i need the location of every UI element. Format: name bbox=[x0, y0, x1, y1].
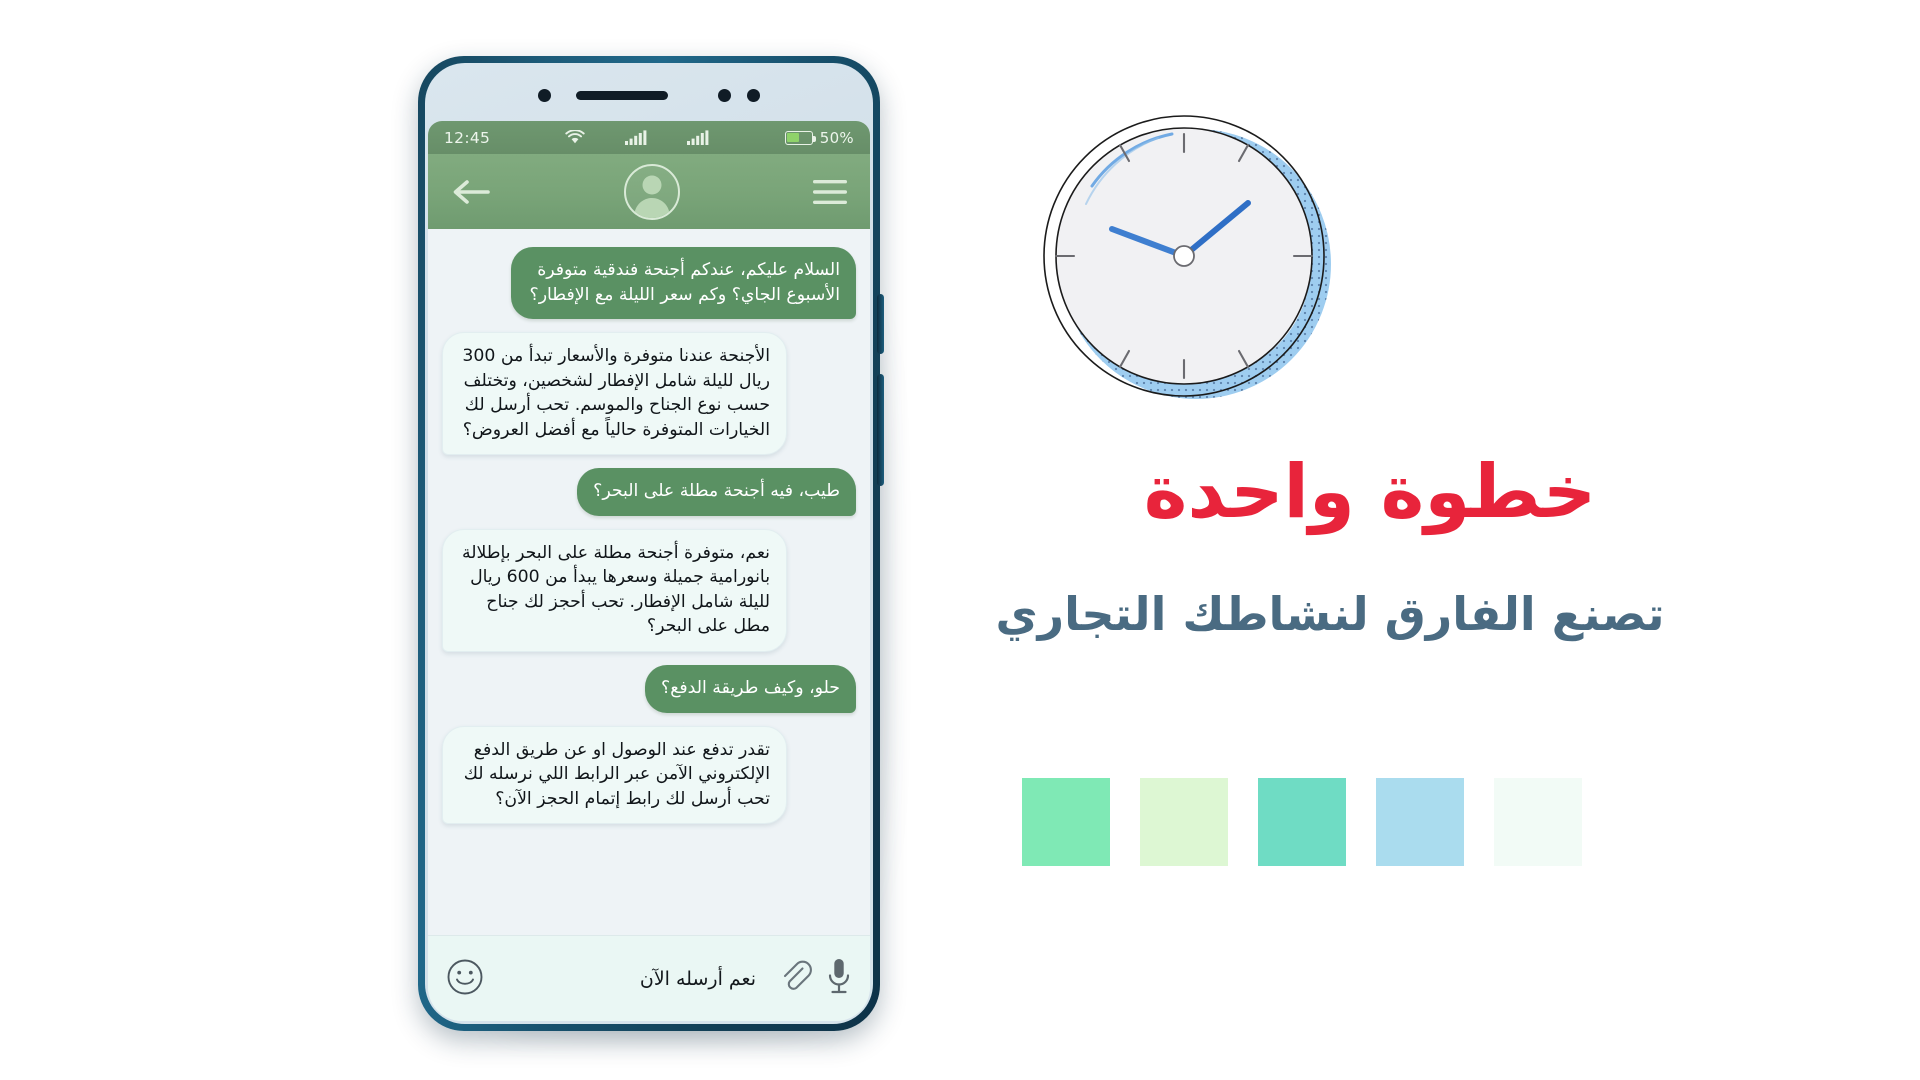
phone-mockup: 12:45 bbox=[418, 56, 896, 1041]
paperclip-icon[interactable] bbox=[778, 958, 812, 1000]
status-bar-battery-group: 50% bbox=[785, 129, 854, 147]
user-avatar-icon bbox=[626, 166, 678, 218]
chat-application: 12:45 bbox=[428, 121, 870, 1021]
status-bar-indicators bbox=[490, 130, 785, 145]
swatch-pale-green bbox=[1140, 778, 1228, 866]
page-title: خطوة واحدة bbox=[1040, 455, 1700, 529]
message-input[interactable]: نعم أرسله الآن bbox=[496, 968, 766, 990]
message-bubble-incoming: نعم، متوفرة أجنحة مطلة على البحر بإطلالة… bbox=[442, 529, 787, 652]
message-bubble-outgoing: حلو، وكيف طريقة الدفع؟ bbox=[645, 665, 856, 713]
chat-header bbox=[428, 154, 870, 229]
message-bubble-outgoing: السلام عليكم، عندكم أجنحة فندقية متوفرة … bbox=[511, 247, 856, 319]
wifi-icon bbox=[565, 130, 585, 145]
light-sensor-icon bbox=[747, 89, 760, 102]
back-arrow-icon[interactable] bbox=[450, 177, 492, 207]
signal-bars-icon-2 bbox=[687, 130, 709, 145]
slide-canvas: 12:45 bbox=[0, 0, 1920, 1080]
microphone-icon[interactable] bbox=[826, 957, 852, 1001]
message-row: حلو، وكيف طريقة الدفع؟ bbox=[442, 665, 856, 713]
avatar[interactable] bbox=[624, 164, 680, 220]
status-bar: 12:45 bbox=[428, 121, 870, 154]
message-row: السلام عليكم، عندكم أجنحة فندقية متوفرة … bbox=[442, 247, 856, 319]
battery-percent-label: 50% bbox=[820, 129, 854, 147]
phone-screen: 12:45 bbox=[425, 63, 873, 1024]
message-bubble-outgoing: طيب، فيه أجنحة مطلة على البحر؟ bbox=[577, 468, 856, 516]
swatch-teal bbox=[1258, 778, 1346, 866]
message-composer: نعم أرسله الآن bbox=[428, 935, 870, 1021]
message-bubble-incoming: الأجنحة عندنا متوفرة والأسعار تبدأ من 30… bbox=[442, 332, 787, 455]
swatch-light-blue bbox=[1376, 778, 1464, 866]
message-row: تقدر تدفع عند الوصول او عن طريق الدفع ال… bbox=[442, 726, 856, 825]
battery-icon bbox=[785, 131, 813, 145]
page-subtitle: تصنع الفارق لنشاطك التجاري bbox=[960, 588, 1700, 641]
message-list[interactable]: السلام عليكم، عندكم أجنحة فندقية متوفرة … bbox=[428, 229, 870, 936]
color-swatch-row bbox=[1022, 778, 1582, 866]
composer-actions bbox=[778, 957, 852, 1001]
message-row: نعم، متوفرة أجنحة مطلة على البحر بإطلالة… bbox=[442, 529, 856, 652]
smiley-face-icon[interactable] bbox=[446, 958, 484, 1000]
earpiece-speaker bbox=[576, 91, 668, 100]
swatch-mint-green bbox=[1022, 778, 1110, 866]
message-bubble-incoming: تقدر تدفع عند الوصول او عن طريق الدفع ال… bbox=[442, 726, 787, 825]
swatch-near-white bbox=[1494, 778, 1582, 866]
front-camera-icon bbox=[538, 89, 551, 102]
status-bar-time: 12:45 bbox=[444, 129, 490, 147]
message-row: طيب، فيه أجنحة مطلة على البحر؟ bbox=[442, 468, 856, 516]
phone-power-button[interactable] bbox=[877, 374, 884, 486]
message-row: الأجنحة عندنا متوفرة والأسعار تبدأ من 30… bbox=[442, 332, 856, 455]
phone-body: 12:45 bbox=[418, 56, 880, 1031]
battery-fill bbox=[787, 133, 798, 142]
signal-bars-icon bbox=[625, 130, 647, 145]
phone-sensor-row bbox=[425, 85, 873, 105]
phone-volume-button[interactable] bbox=[877, 294, 884, 354]
hamburger-menu-icon[interactable] bbox=[812, 178, 848, 206]
proximity-sensor-icon bbox=[718, 89, 731, 102]
analog-clock-icon bbox=[1030, 108, 1350, 408]
